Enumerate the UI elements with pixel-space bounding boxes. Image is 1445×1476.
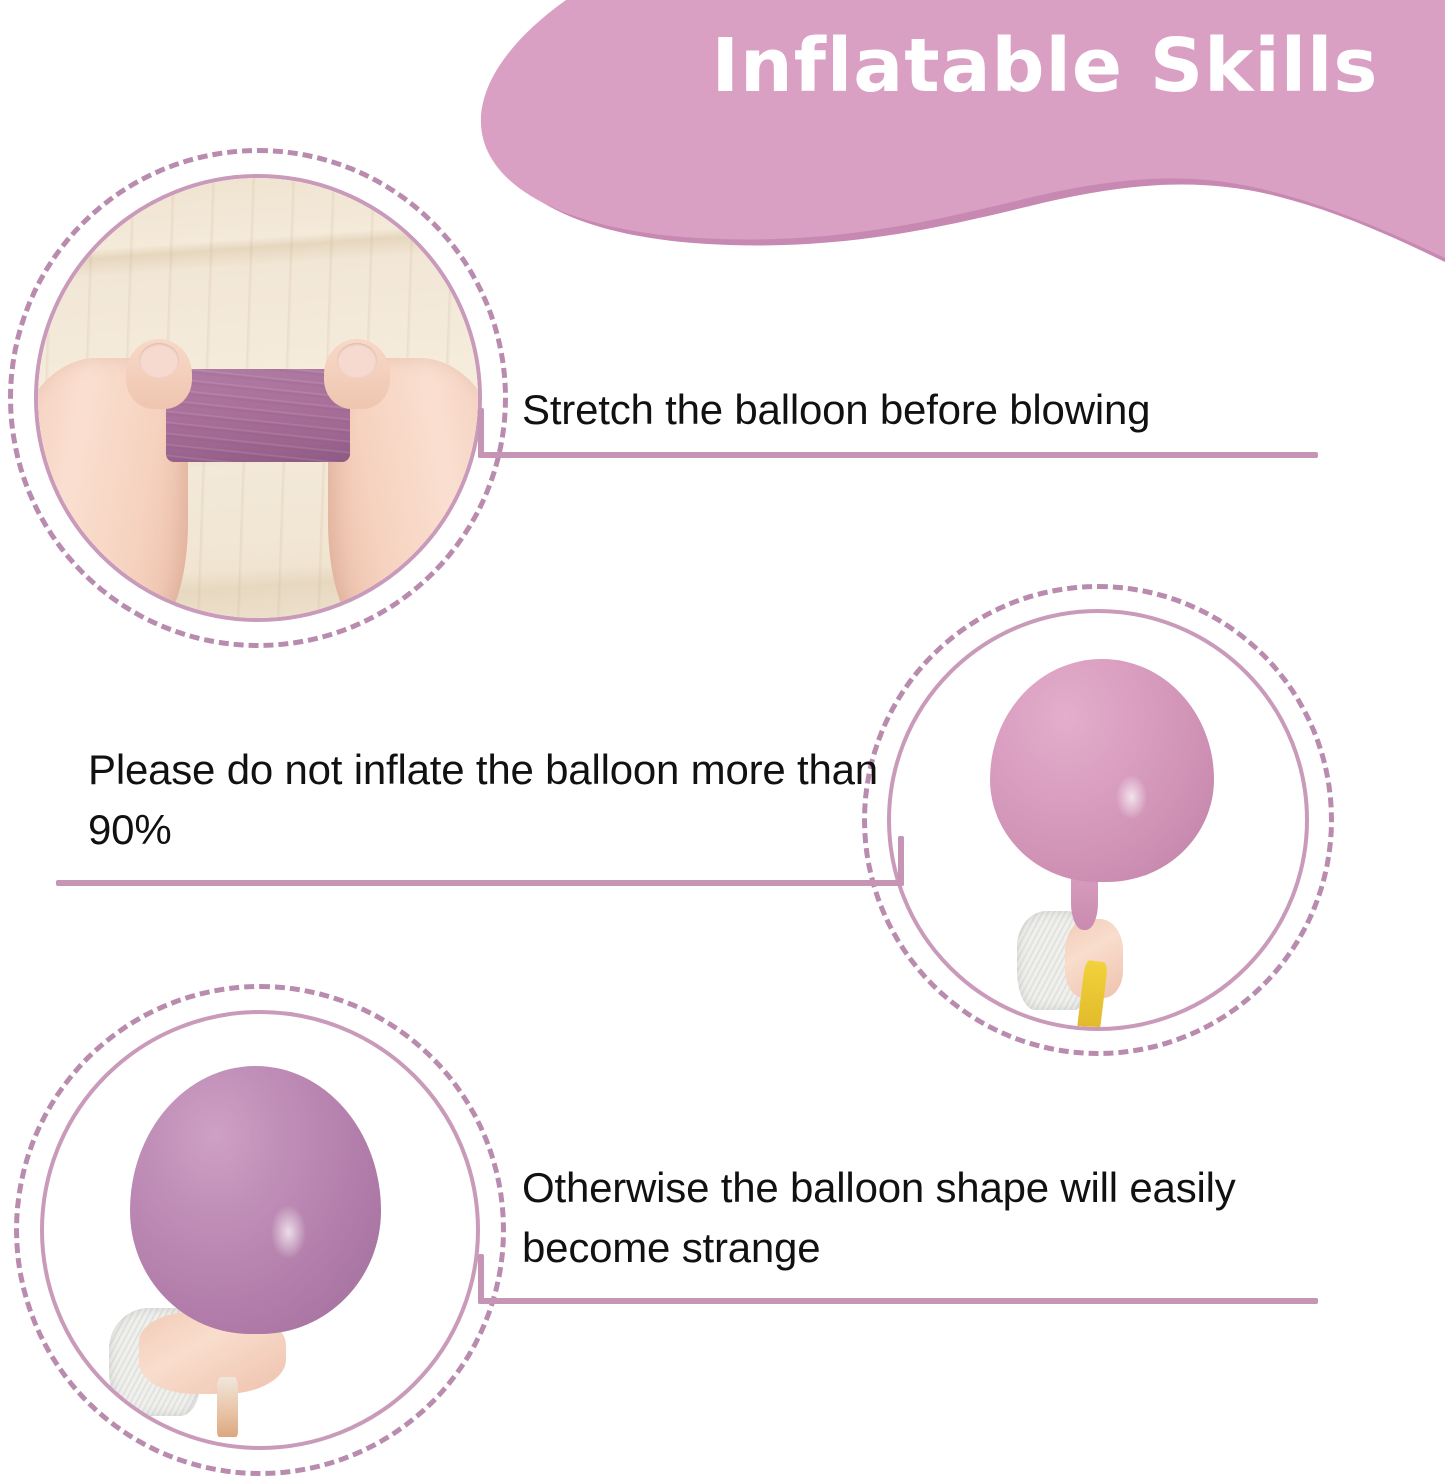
step-1-connector-tick [478, 408, 484, 458]
photo-correct-inflation [891, 613, 1305, 1027]
right-thumbnail [337, 343, 377, 378]
step-2-underline [56, 880, 904, 886]
stretched-balloon [166, 369, 351, 461]
step-2-text-block: Please do not inflate the balloon more t… [88, 740, 888, 859]
step-3-connector-tick [478, 1254, 484, 1304]
step-3-text-block: Otherwise the balloon shape will easily … [522, 1158, 1322, 1277]
step-3-image-circle [14, 984, 506, 1476]
step-2-connector-tick [898, 836, 904, 886]
pump-nozzle [217, 1377, 239, 1437]
inflated-balloon [990, 659, 1214, 883]
banner-shape [470, 0, 1445, 300]
infographic-page: Inflatable Skills Stretch the balloon be… [0, 0, 1445, 1476]
step-1-text-block: Stretch the balloon before blowing [522, 380, 1322, 440]
photo-over-inflation [44, 1014, 476, 1446]
step-1-image-circle [8, 148, 508, 648]
solid-ring [40, 1010, 480, 1450]
solid-ring [34, 174, 482, 622]
header-banner: Inflatable Skills [470, 0, 1445, 300]
left-thumbnail [139, 343, 179, 378]
solid-ring [887, 609, 1309, 1031]
step-3-caption: Otherwise the balloon shape will easily … [522, 1158, 1322, 1277]
step-3-underline [478, 1298, 1318, 1304]
step-1-caption: Stretch the balloon before blowing [522, 380, 1322, 440]
step-2-image-circle [862, 584, 1334, 1056]
over-inflated-balloon [130, 1066, 381, 1334]
page-title: Inflatable Skills [650, 28, 1440, 106]
step-2-caption: Please do not inflate the balloon more t… [88, 740, 888, 859]
step-1-underline [478, 452, 1318, 458]
photo-stretching-balloon [38, 178, 478, 618]
